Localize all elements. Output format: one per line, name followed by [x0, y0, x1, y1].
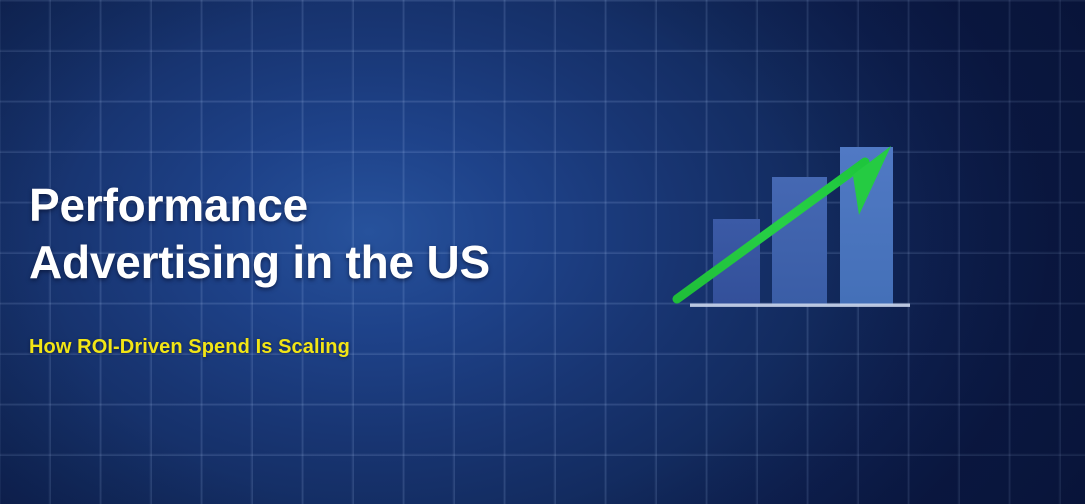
page-title-line-2: Advertising in the US — [29, 234, 629, 291]
chart-bar-1 — [713, 219, 760, 305]
trend-arrow-shaft — [677, 162, 865, 299]
title-block: Performance Advertising in the US How RO… — [29, 177, 629, 359]
chart-baseline — [690, 304, 910, 307]
bar-chart-icon — [660, 128, 925, 323]
page-subtitle: How ROI-Driven Spend Is Scaling — [29, 336, 629, 359]
page-title-line-1: Performance — [29, 177, 629, 234]
growth-chart-graphic — [660, 128, 925, 323]
presentation-slide: Performance Advertising in the US How RO… — [0, 0, 1085, 504]
